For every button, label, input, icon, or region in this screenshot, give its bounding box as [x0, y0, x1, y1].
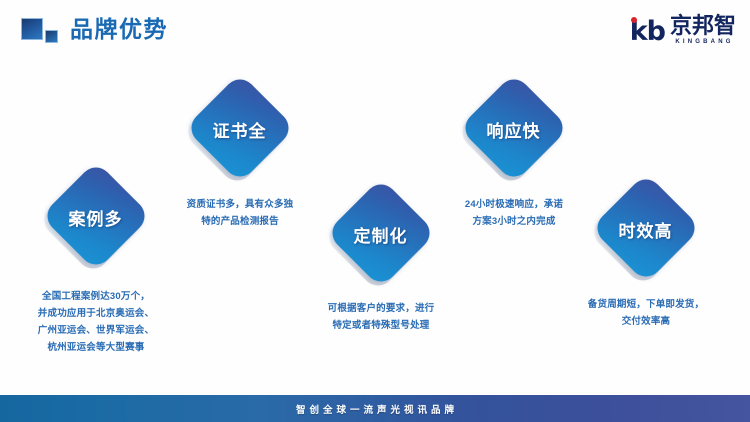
logo-brand-block: 京邦智 KINGBANG	[670, 14, 736, 46]
diamond-label-3: 定制化	[323, 222, 438, 247]
advantage-diamond-4[interactable]: 响应快	[456, 70, 571, 185]
slide-footer: 智创全球一流声光视讯品牌	[0, 395, 750, 422]
footer-slogan: 智创全球一流声光视讯品牌	[292, 402, 458, 416]
slide-header: 品牌优势 kb 京邦智 KINGBANG	[0, 0, 750, 62]
header-decoration	[21, 18, 61, 46]
decor-square-small-icon	[45, 30, 58, 43]
advantage-caption-5: 备货周期短，下单即发货， 交付效率高	[558, 296, 734, 330]
logo-mark-kb: kb	[630, 18, 665, 46]
advantage-caption-1: 全国工程案例达30万个， 并成功应用于北京奥运会、 广州亚运会、世界军运会、 杭…	[10, 288, 182, 356]
advantage-diamond-1[interactable]: 案例多	[38, 158, 153, 273]
advantage-caption-4: 24小时极速响应，承诺 方案3小时之内完成	[428, 196, 600, 230]
advantage-diamond-5[interactable]: 时效高	[588, 170, 703, 285]
diamond-label-4: 响应快	[456, 117, 571, 142]
diamond-label-2: 证书全	[182, 117, 297, 142]
advantage-diamond-2[interactable]: 证书全	[182, 70, 297, 185]
diamond-label-5: 时效高	[588, 217, 703, 242]
advantage-caption-3: 可根据客户的要求，进行 特定或者特殊型号处理	[295, 300, 467, 334]
decor-square-large-icon	[21, 18, 43, 40]
advantage-caption-2: 资质证书多，具有众多独 特的产品检测报告	[155, 196, 325, 230]
logo-red-dot-icon	[631, 17, 637, 23]
logo-brand-en: KINGBANG	[675, 38, 733, 46]
slide-root: 品牌优势 kb 京邦智 KINGBANG 案例多 全国工程案例达30万个， 并成…	[0, 0, 750, 422]
logo-brand-cn: 京邦智	[670, 14, 736, 37]
page-title: 品牌优势	[70, 12, 168, 46]
diamond-label-1: 案例多	[38, 205, 153, 230]
advantage-diamond-3[interactable]: 定制化	[323, 175, 438, 290]
brand-logo: kb 京邦智 KINGBANG	[630, 14, 736, 46]
